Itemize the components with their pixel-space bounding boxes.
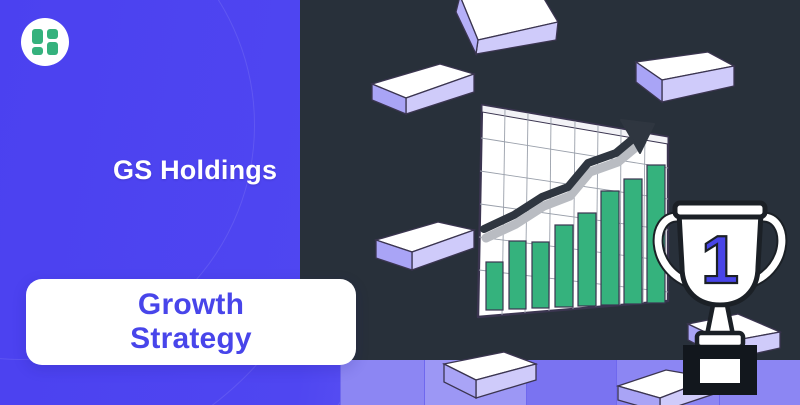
page-title: GS Holdings: [113, 155, 277, 186]
first-place-trophy-icon: 1: [645, 195, 800, 405]
title-line-1: Growth: [130, 288, 252, 322]
four-squares-grid-icon: [30, 27, 60, 57]
flying-brick-block: [368, 58, 478, 118]
brand-logo[interactable]: [21, 18, 69, 66]
title-card: Growth Strategy: [26, 279, 356, 365]
poster-canvas: 1 GS Holdings Growth Strategy: [0, 0, 800, 405]
flying-brick-block: [372, 218, 478, 274]
trophy-rank-number: 1: [701, 222, 739, 298]
flying-brick-block: [440, 350, 540, 404]
flying-brick-block: [448, 0, 558, 58]
title-line-2: Strategy: [130, 322, 252, 356]
